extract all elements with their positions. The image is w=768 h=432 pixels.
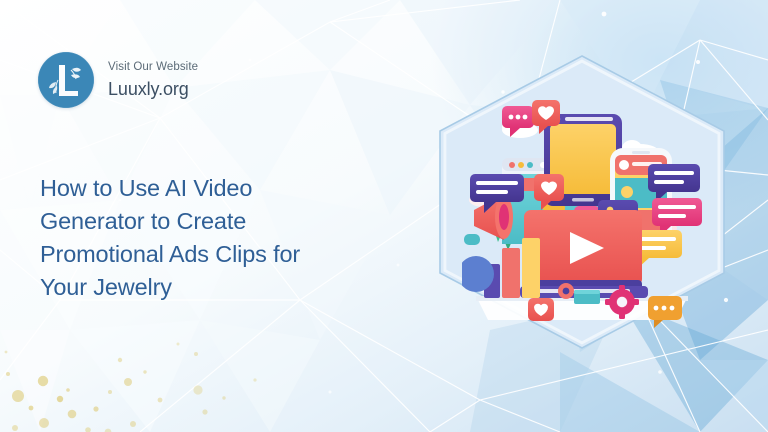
marketing-3d-scene bbox=[462, 82, 702, 332]
page-title: How to Use AI Video Generator to Create … bbox=[40, 172, 410, 304]
luuxly-logo-icon[interactable] bbox=[38, 52, 94, 108]
brand-kicker: Visit Our Website bbox=[108, 62, 198, 74]
brand-text-block: Visit Our Website Luuxly.org bbox=[108, 62, 198, 99]
teal-block-decor bbox=[574, 290, 600, 304]
illustration-hexagon bbox=[432, 52, 732, 352]
headline-line-1: How to Use AI Video bbox=[40, 172, 410, 205]
headline-line-3: Promotional Ads Clips for bbox=[40, 238, 410, 271]
blog-featured-banner: Visit Our Website Luuxly.org How to Use … bbox=[0, 0, 768, 432]
chat-bubble-orange-bottom bbox=[648, 296, 682, 328]
headline-line-2: Generator to Create bbox=[40, 205, 410, 238]
gold-confetti-dots bbox=[5, 343, 257, 432]
brand-lockup[interactable]: Visit Our Website Luuxly.org bbox=[38, 52, 198, 108]
brand-name: Luuxly.org bbox=[108, 80, 198, 98]
headline-line-4: Your Jewelry bbox=[40, 271, 410, 304]
